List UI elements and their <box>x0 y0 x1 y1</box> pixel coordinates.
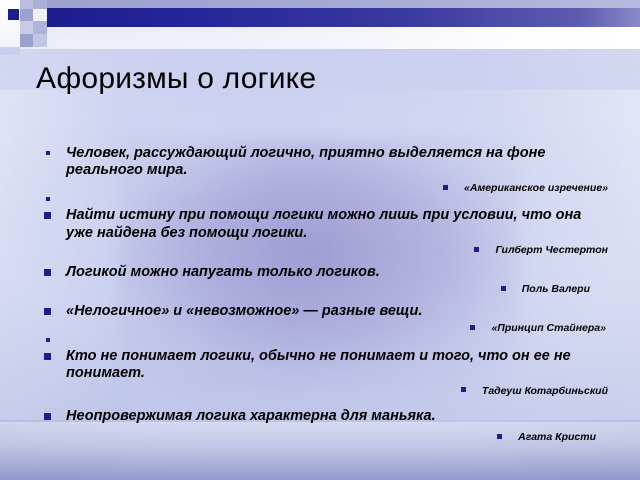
list-item: Человек, рассуждающий логично, приятно в… <box>40 145 612 194</box>
corner-square-lilac-2 <box>20 9 33 21</box>
corner-square-navy <box>8 9 19 20</box>
attribution-label: «Американское изречение» <box>464 182 608 195</box>
quote-label: Найти истину при помощи логики можно лиш… <box>66 207 581 240</box>
bullet-square-icon <box>470 325 475 330</box>
bullet-square-icon <box>474 247 479 252</box>
attribution-4: «Принцип Стайнера» <box>40 322 612 335</box>
bullet-square-icon <box>46 338 50 342</box>
bullet-square-icon <box>501 286 506 291</box>
presentation-slide: Афоризмы о логике Человек, рассуждающий … <box>0 0 640 480</box>
bullet-square-icon <box>44 212 51 219</box>
quote-text-4: «Нелогичное» и «невозможное» — разные ве… <box>40 303 612 320</box>
list-item: Неопровержимая логика характерна для ман… <box>40 408 612 444</box>
empty-bullet-row <box>40 194 612 207</box>
quote-text-1: Человек, рассуждающий логично, приятно в… <box>40 145 612 180</box>
spacer <box>40 397 612 408</box>
bullet-square-icon <box>497 434 502 439</box>
attribution-6: Агата Кристи <box>40 431 612 444</box>
corner-square-lilac-4 <box>33 0 47 9</box>
corner-squares <box>0 0 120 50</box>
bullet-square-icon <box>46 151 50 155</box>
quote-label: Неопровержимая логика характерна для ман… <box>66 408 436 424</box>
list-item: Найти истину при помощи логики можно лиш… <box>40 207 612 256</box>
attribution-label: «Принцип Стайнера» <box>491 322 606 335</box>
attribution-label: Тадеуш Котарбиньский <box>482 385 608 398</box>
corner-square-lilac-5 <box>33 21 47 34</box>
attribution-label: Поль Валери <box>522 283 590 296</box>
bullet-square-icon <box>44 269 51 276</box>
bullet-square-icon <box>461 387 466 392</box>
list-item: Логикой можно напугать только логиков. П… <box>40 264 612 296</box>
bullet-square-icon <box>46 197 50 201</box>
empty-bullet-row <box>40 335 612 348</box>
quote-text-5: Кто не понимает логики, обычно не понима… <box>40 348 612 383</box>
quote-label: Человек, рассуждающий логично, приятно в… <box>66 145 545 178</box>
corner-square-lilac-6 <box>20 34 33 47</box>
attribution-label: Агата Кристи <box>518 431 596 444</box>
navy-ribbon <box>47 8 640 27</box>
corner-square-lilac-1 <box>20 0 33 9</box>
bullet-square-icon <box>44 353 51 360</box>
corner-square-lilac-3 <box>20 21 33 34</box>
list-item: «Нелогичное» и «невозможное» — разные ве… <box>40 303 612 335</box>
attribution-1: «Американское изречение» <box>40 182 612 195</box>
attribution-5: Тадеуш Котарбиньский <box>40 385 612 398</box>
list-item: Кто не понимает логики, обычно не понима… <box>40 348 612 397</box>
attribution-2: Гилберт Честертон <box>40 244 612 257</box>
corner-square-lilac-7 <box>33 34 47 47</box>
attribution-label: Гилберт Честертон <box>495 244 608 257</box>
quote-text-6: Неопровержимая логика характерна для ман… <box>40 408 612 425</box>
bullet-square-icon <box>443 185 448 190</box>
attribution-3: Поль Валери <box>40 283 612 296</box>
slide-title: Афоризмы о логике <box>36 62 606 96</box>
corner-square-bg-white <box>0 0 20 47</box>
quote-label: Логикой можно напугать только логиков. <box>66 264 380 280</box>
quote-label: «Нелогичное» и «невозможное» — разные ве… <box>66 303 422 319</box>
quote-text-2: Найти истину при помощи логики можно лиш… <box>40 207 612 242</box>
spacer <box>40 296 612 303</box>
quote-label: Кто не понимает логики, обычно не понима… <box>66 348 571 381</box>
bullet-square-icon <box>44 308 51 315</box>
quote-text-3: Логикой можно напугать только логиков. <box>40 264 612 281</box>
bullet-square-icon <box>44 413 51 420</box>
corner-square-lilac-8 <box>0 47 20 55</box>
spacer <box>40 257 612 264</box>
aphorism-list: Человек, рассуждающий логично, приятно в… <box>40 145 612 444</box>
corner-square-white-1 <box>33 9 47 21</box>
